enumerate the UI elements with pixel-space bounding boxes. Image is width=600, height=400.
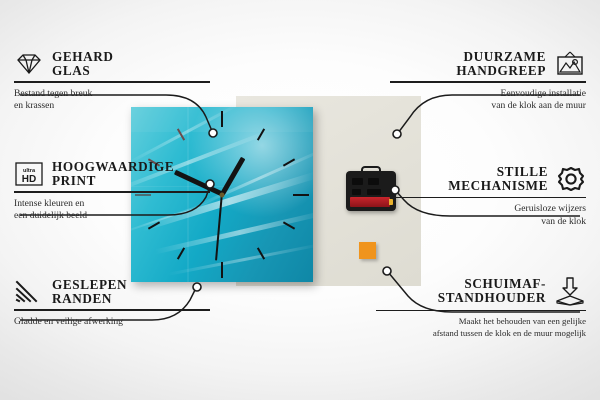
feature-title-line2: PRINT (52, 174, 174, 188)
clock-tick (293, 194, 309, 196)
feature-title-line2: STANDHOUDER (438, 291, 546, 305)
feature-schuimaf-standhouder: SCHUIMAF- STANDHOUDER Maakt het behouden… (376, 276, 586, 340)
svg-text:HD: HD (22, 174, 36, 185)
foam-spacer (359, 242, 376, 259)
ultra-hd-icon: ultra HD (14, 161, 44, 187)
framed-picture-icon (554, 51, 586, 77)
feature-subtitle: Bestand tegen breuk en krassen (14, 88, 210, 113)
feature-title-line2: GLAS (52, 64, 113, 78)
clock-mechanism (346, 171, 396, 211)
feature-rule (14, 81, 210, 82)
feature-geslepen-randen: GESLEPEN RANDEN Gladde en veilige afwerk… (14, 278, 210, 328)
clock-tick (221, 262, 223, 278)
clock-tick (177, 247, 185, 259)
mechanism-battery (350, 197, 390, 207)
feature-title-line1: SCHUIMAF- (464, 277, 546, 291)
feature-subtitle: Geruisloze wijzers van de klok (390, 203, 586, 228)
feature-hoogwaardige-print: ultra HD HOOGWAARDIGE PRINT Intense kleu… (14, 160, 210, 223)
diamond-icon (14, 52, 44, 76)
feather-streak (169, 243, 313, 275)
feature-title-line2: RANDEN (52, 292, 127, 306)
feature-title-line1: STILLE (497, 165, 548, 179)
feature-title-line2: HANDGREEP (456, 64, 546, 78)
gear-icon (556, 165, 586, 193)
feature-gehard-glas: GEHARD GLAS Bestand tegen breuk en krass… (14, 50, 210, 113)
feature-title-line2: MECHANISME (448, 179, 548, 193)
feature-rule (14, 309, 210, 310)
bevelled-edges-icon (14, 280, 44, 304)
feature-subtitle: Maakt het behouden van een gelijke afsta… (376, 316, 586, 339)
clock-tick (221, 111, 223, 127)
feature-title-line1: HOOGWAARDIGE (52, 160, 174, 174)
feature-subtitle: Gladde en veilige afwerking (14, 316, 210, 329)
spacer-arrow-icon (554, 276, 586, 306)
mechanism-vent (352, 178, 363, 185)
feature-rule (14, 191, 210, 192)
feature-subtitle: Intense kleuren en een duidelijk beeld (14, 198, 210, 223)
feature-title-line1: GESLEPEN (52, 278, 127, 292)
mechanism-vent (352, 189, 361, 195)
feature-duurzame-handgreep: DUURZAME HANDGREEP Eenvoudige installati… (390, 50, 586, 113)
feature-rule (390, 197, 586, 198)
mechanism-vent (368, 178, 379, 185)
feature-title-line1: GEHARD (52, 50, 113, 64)
infographic-canvas: GEHARD GLAS Bestand tegen breuk en krass… (0, 0, 600, 400)
feature-subtitle: Eenvoudige installatie van de klok aan d… (390, 88, 586, 113)
clock-hub (220, 192, 225, 197)
feature-title-line1: DUURZAME (464, 50, 546, 64)
feature-rule (376, 310, 586, 311)
feature-rule (390, 81, 586, 82)
mechanism-vent (367, 189, 381, 195)
feature-stille-mechanisme: STILLE MECHANISME Geruisloze wijzers van… (390, 165, 586, 229)
